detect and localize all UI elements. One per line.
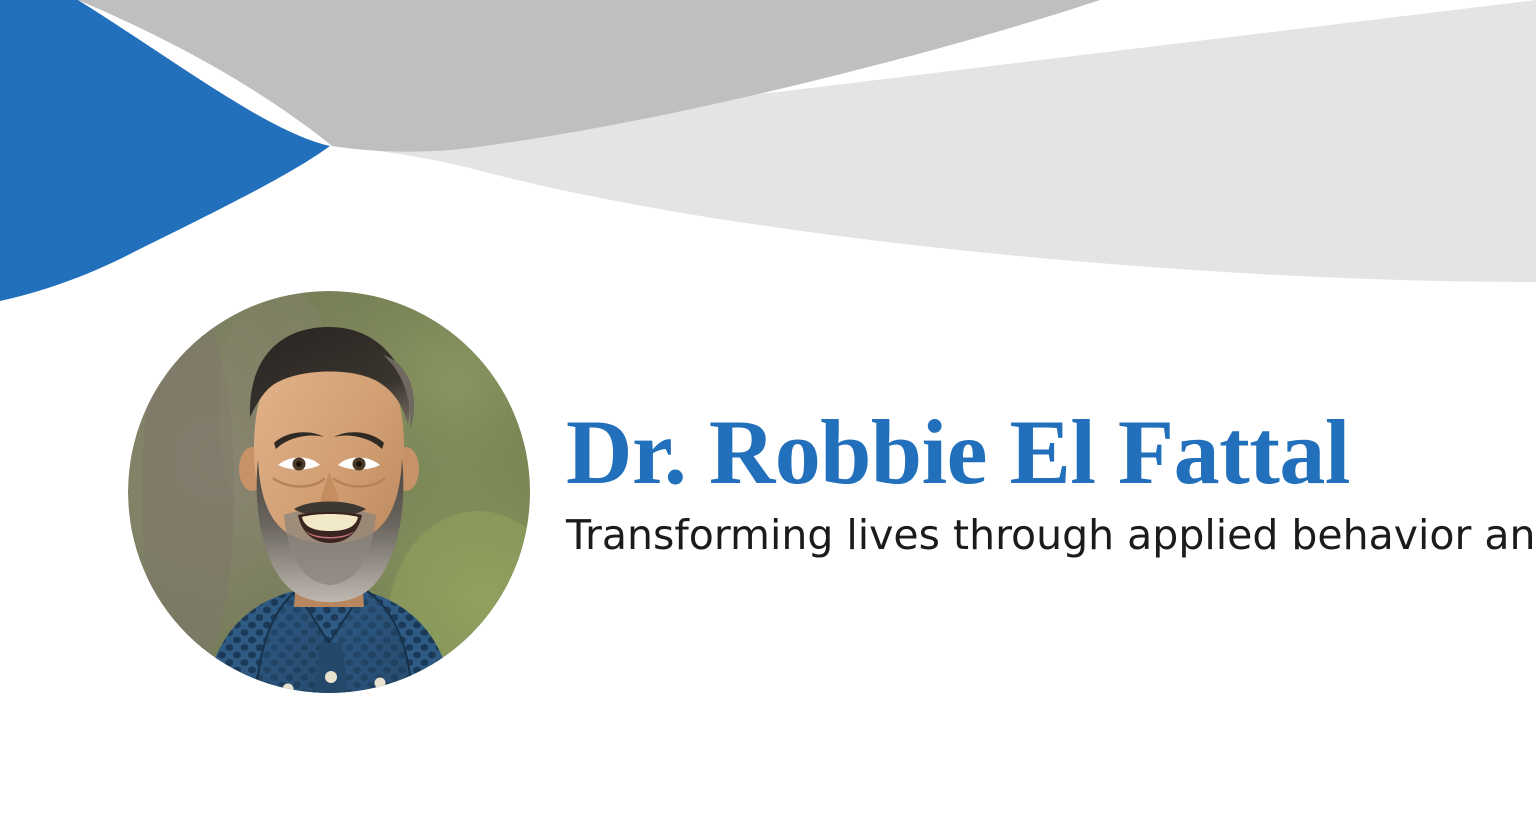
page-tagline: Transforming lives through applied behav… — [566, 512, 1486, 559]
profile-text-block: Dr. Robbie El Fattal Transforming lives … — [566, 406, 1486, 559]
profile-banner: Dr. Robbie El Fattal Transforming lives … — [0, 0, 1536, 840]
avatar — [128, 291, 530, 693]
light-grey-arc-shape — [332, 0, 1536, 282]
blue-wedge-shape — [0, 0, 330, 301]
portrait-illustration — [128, 291, 530, 693]
mid-grey-arc-shape — [78, 0, 1100, 152]
page-title: Dr. Robbie El Fattal — [566, 406, 1486, 500]
